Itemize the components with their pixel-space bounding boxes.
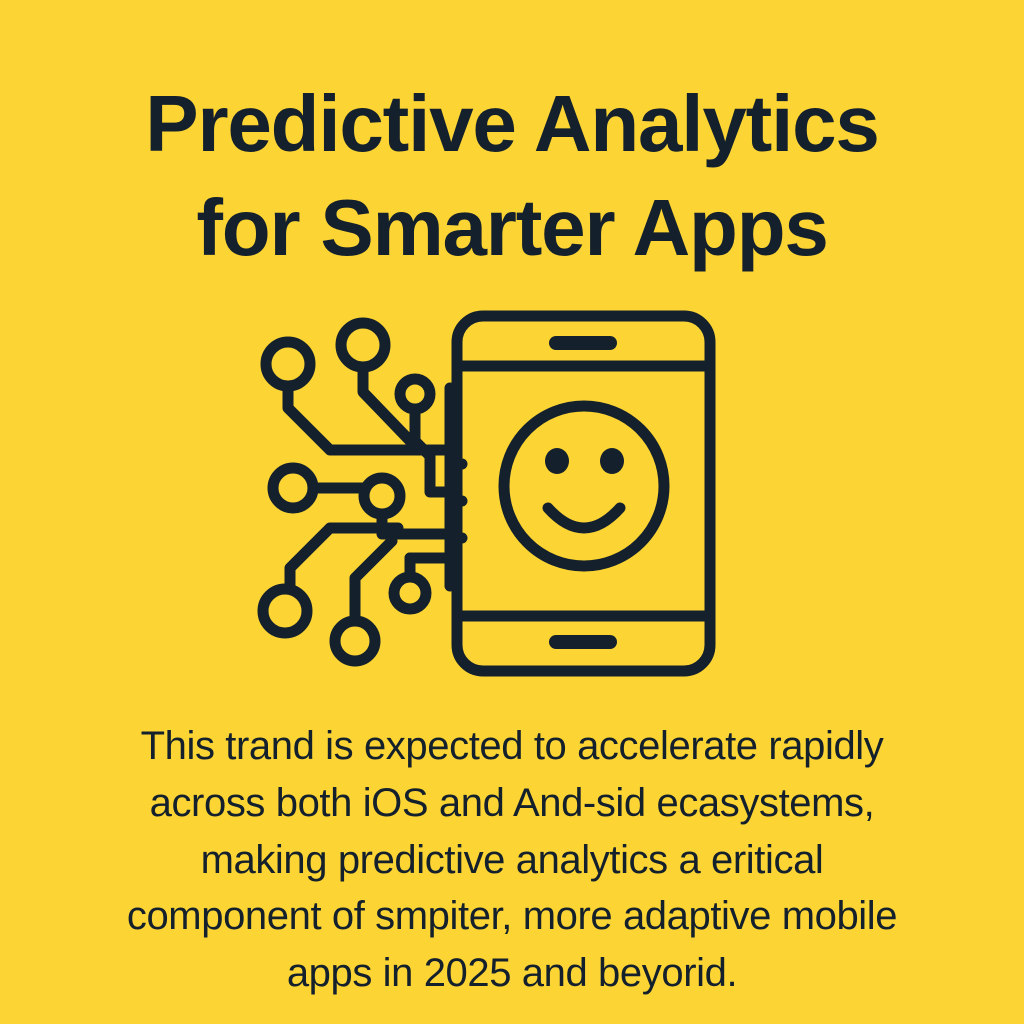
page-title: Predictive Analytics for Smarter Apps [32, 72, 992, 280]
circuit-node-bottom-center [335, 621, 375, 661]
circuit-node-bottom-left [263, 589, 307, 633]
body-line-5: apps in 2025 and beyorid. [62, 945, 962, 1002]
body-line-4: component of smpiter, more adaptive mobi… [62, 888, 962, 945]
circuit-node-mid-left [273, 468, 313, 508]
title-line-2: for Smarter Apps [32, 176, 992, 280]
circuit-node-lower-small [394, 577, 426, 609]
smiley-face-icon [504, 406, 664, 566]
smiley-eye-right [600, 448, 624, 474]
circuit-node-top-left [266, 342, 310, 386]
circuit-network [263, 323, 462, 661]
phone-device [457, 316, 710, 671]
circuit-node-top [341, 323, 385, 367]
smiley-mouth [548, 508, 620, 528]
body-line-1: This trand is expected to accelerate rap… [62, 718, 962, 775]
circuit-node-upper-small [400, 379, 430, 409]
circuit-node-mid [364, 478, 400, 514]
body-line-2: across both iOS and And-sid ecasystems, [62, 775, 962, 832]
poster-canvas: Predictive Analytics for Smarter Apps [0, 0, 1024, 1024]
title-line-1: Predictive Analytics [32, 72, 992, 176]
body-line-3: making predictive analytics a eritical [62, 832, 962, 889]
illustration-phone-circuit [0, 296, 1024, 696]
smiley-eye-left [545, 448, 569, 474]
body-paragraph: This trand is expected to accelerate rap… [62, 718, 962, 1002]
illustration-svg [0, 296, 1024, 696]
circuit-trace-bottomcenter [355, 541, 392, 621]
smiley-outline [504, 406, 664, 566]
